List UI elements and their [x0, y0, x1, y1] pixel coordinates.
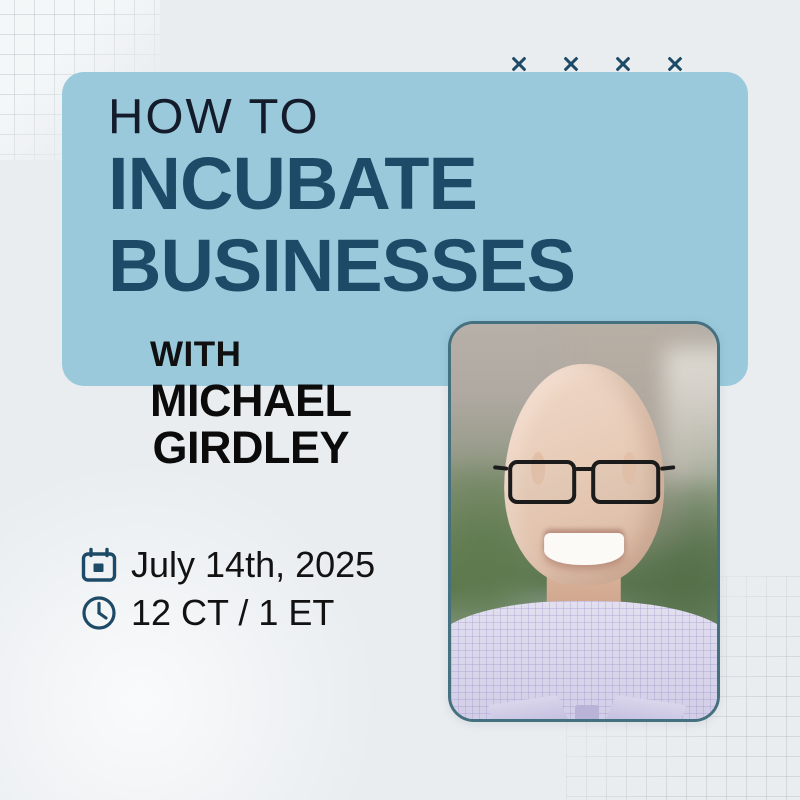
headline-kicker: HOW TO	[108, 92, 728, 143]
calendar-icon	[80, 546, 118, 584]
shirt-collar-left	[488, 695, 570, 722]
speaker-name: MICHAEL GIRDLEY	[150, 377, 351, 472]
event-date-text: July 14th, 2025	[131, 547, 375, 583]
shirt-placket	[575, 705, 600, 722]
speaker-first-name: MICHAEL	[150, 375, 351, 426]
glasses-lens-left	[508, 460, 576, 503]
glasses-bridge	[575, 467, 593, 471]
event-details: July 14th, 2025 12 CT / 1 ET	[80, 546, 375, 632]
speaker-block: WITH MICHAEL GIRDLEY	[150, 337, 351, 471]
detail-row-date: July 14th, 2025	[80, 546, 375, 584]
portrait-smile	[544, 533, 624, 565]
event-time-text: 12 CT / 1 ET	[131, 595, 334, 631]
x-icon	[614, 55, 632, 73]
headline-line-1: INCUBATE	[108, 147, 728, 221]
speaker-portrait	[448, 321, 720, 722]
glasses-lens-right	[592, 460, 660, 503]
webinar-promo-poster: HOW TO INCUBATE BUSINESSES WITH MICHAEL …	[0, 0, 800, 800]
speaker-last-name: GIRDLEY	[150, 424, 351, 471]
x-icon	[666, 55, 684, 73]
detail-row-time: 12 CT / 1 ET	[80, 594, 375, 632]
glasses-icon	[508, 460, 660, 503]
x-icon	[562, 55, 580, 73]
headline-block: HOW TO INCUBATE BUSINESSES	[108, 92, 728, 303]
speaker-with-label: WITH	[150, 337, 351, 374]
shirt-collar-right	[605, 695, 687, 722]
x-icon	[510, 55, 528, 73]
clock-icon	[80, 594, 118, 632]
x-marks-decoration	[510, 55, 684, 73]
portrait-shirt	[448, 601, 720, 723]
headline-line-2: BUSINESSES	[108, 229, 728, 303]
